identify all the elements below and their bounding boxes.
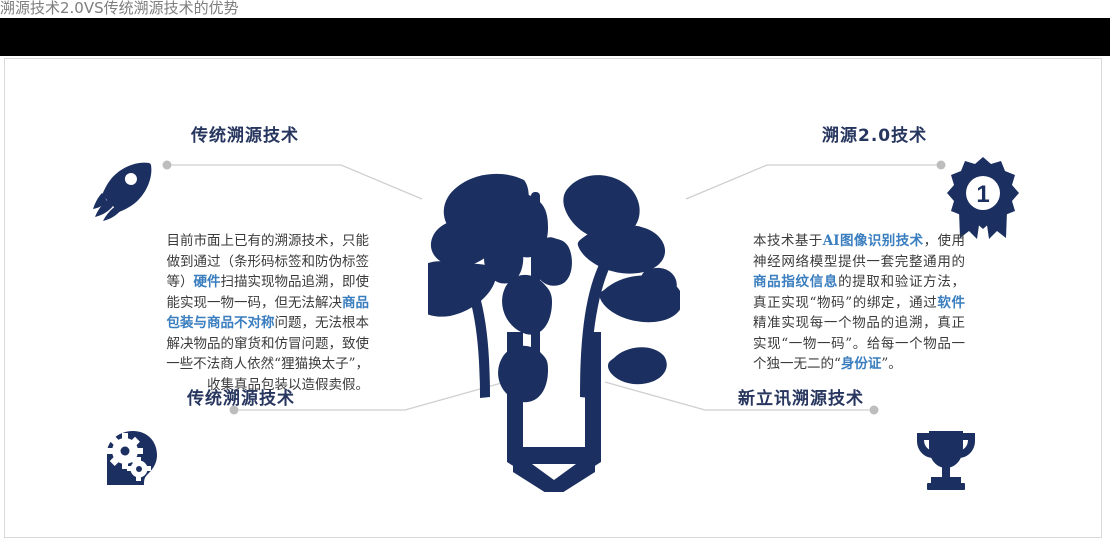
text-seg-highlight: 硬件 — [194, 274, 221, 290]
heading-traditional-bottom: 传统溯源技术 — [187, 384, 295, 409]
heading-traditional-top: 传统溯源技术 — [191, 121, 299, 146]
text-seg-highlight: 身份证 — [841, 356, 882, 372]
text-seg: ”。 — [881, 356, 901, 372]
paragraph-traceability-2: 本技术基于AI图像识别技术，使用神经网络模型提供一套完整通用的商品指纹信息的提取… — [753, 231, 965, 375]
paragraph-traditional: 目前市面上已有的溯源技术，只能做到通过（条形码标签和防伪标签等）硬件扫描实现物品… — [157, 231, 369, 395]
text-seg-highlight: AI图像识别技术 — [823, 233, 924, 249]
window-title: 溯源技术2.0VS传统溯源技术的优势 — [0, 0, 239, 17]
window-title-bar: 溯源技术2.0VS传统溯源技术的优势 — [0, 0, 1110, 18]
tree-pencil-icon — [428, 162, 680, 492]
award-badge-icon: 1 — [947, 157, 1019, 241]
rocket-icon — [93, 159, 155, 221]
infographic-root: 溯源技术2.0VS传统溯源技术的优势 — [0, 0, 1110, 545]
text-seg-highlight: 软件 — [937, 295, 965, 311]
text-seg: 本技术基于 — [753, 233, 823, 249]
badge-number: 1 — [976, 181, 989, 208]
top-black-band — [0, 18, 1110, 56]
heading-xinlixun: 新立讯溯源技术 — [738, 384, 864, 409]
heading-traceability-2: 溯源2.0技术 — [822, 121, 927, 146]
slide-panel: 传统溯源技术 目前市面上已有的溯源技术，只能做到通过（条形码标签和防伪标签等）硬… — [4, 58, 1102, 538]
text-seg-highlight: 商品指纹信息 — [753, 274, 838, 290]
trophy-icon — [915, 429, 977, 491]
head-gears-icon — [101, 431, 159, 487]
